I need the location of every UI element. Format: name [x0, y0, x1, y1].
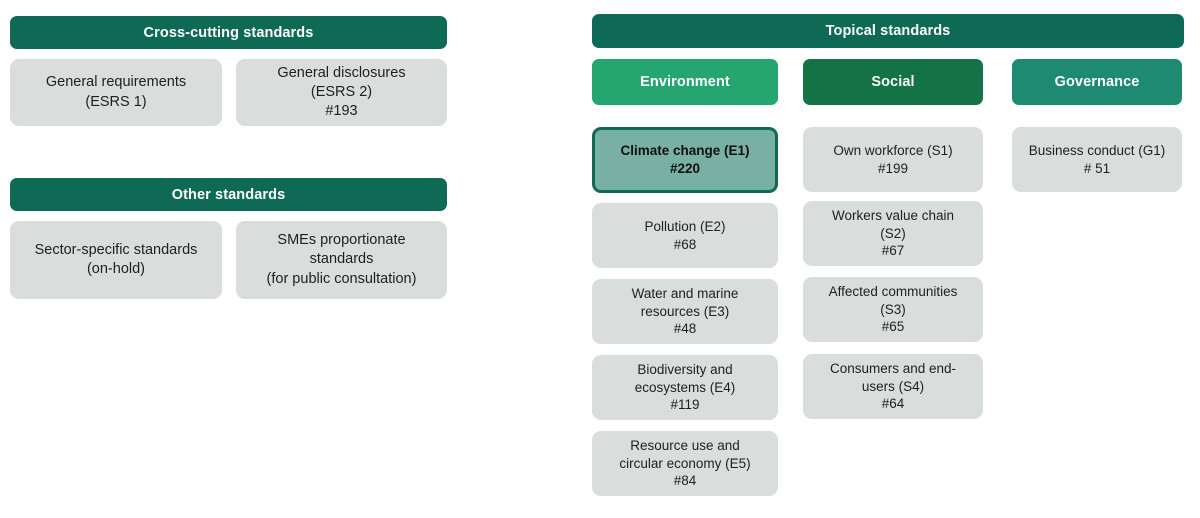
card-water-and-marine-resources-e3-text: Water and marine resources (E3) #48: [632, 285, 739, 338]
card-general-disclosures-text: General disclosures (ESRS 2) #193: [277, 64, 405, 121]
card-smes-proportionate-standards-text: SMEs proportionate standards (for public…: [244, 231, 439, 288]
card-workers-value-chain-s2-text: Workers value chain (S2) #67: [832, 207, 954, 260]
cross-cutting-standards-header: Cross-cutting standards: [10, 16, 447, 49]
card-resource-use-and-circular-economy-e5[interactable]: Resource use and circular economy (E5) #…: [592, 431, 778, 496]
column-header-governance[interactable]: Governance: [1012, 59, 1182, 105]
card-business-conduct-g1-text: Business conduct (G1) # 51: [1029, 142, 1166, 178]
card-own-workforce-s1-text: Own workforce (S1) #199: [833, 142, 952, 178]
card-biodiversity-and-ecosystems-e4[interactable]: Biodiversity and ecosystems (E4) #119: [592, 355, 778, 420]
card-resource-use-and-circular-economy-e5-text: Resource use and circular economy (E5) #…: [619, 437, 750, 490]
card-sector-specific-standards-text: Sector-specific standards (on-hold): [35, 241, 198, 279]
column-header-environment[interactable]: Environment: [592, 59, 778, 105]
card-climate-change-e1-text: Climate change (E1) #220: [620, 142, 749, 178]
column-header-social[interactable]: Social: [803, 59, 983, 105]
card-affected-communities-s3-text: Affected communities (S3) #65: [829, 283, 958, 336]
card-pollution-e2[interactable]: Pollution (E2) #68: [592, 203, 778, 268]
other-standards-header: Other standards: [10, 178, 447, 211]
card-general-disclosures[interactable]: General disclosures (ESRS 2) #193: [236, 59, 447, 126]
card-smes-proportionate-standards[interactable]: SMEs proportionate standards (for public…: [236, 221, 447, 299]
card-workers-value-chain-s2[interactable]: Workers value chain (S2) #67: [803, 201, 983, 266]
card-affected-communities-s3[interactable]: Affected communities (S3) #65: [803, 277, 983, 342]
card-pollution-e2-text: Pollution (E2) #68: [644, 218, 725, 254]
card-sector-specific-standards[interactable]: Sector-specific standards (on-hold): [10, 221, 222, 299]
card-general-requirements-text: General requirements (ESRS 1): [46, 73, 186, 111]
topical-standards-header: Topical standards: [592, 14, 1184, 48]
card-own-workforce-s1[interactable]: Own workforce (S1) #199: [803, 127, 983, 192]
card-consumers-and-end-users-s4-text: Consumers and end- users (S4) #64: [830, 360, 956, 413]
card-climate-change-e1[interactable]: Climate change (E1) #220: [592, 127, 778, 193]
card-biodiversity-and-ecosystems-e4-text: Biodiversity and ecosystems (E4) #119: [635, 361, 736, 414]
card-business-conduct-g1[interactable]: Business conduct (G1) # 51: [1012, 127, 1182, 192]
card-water-and-marine-resources-e3[interactable]: Water and marine resources (E3) #48: [592, 279, 778, 344]
card-general-requirements[interactable]: General requirements (ESRS 1): [10, 59, 222, 126]
cross-cutting-and-other-standards-panel: Cross-cutting standards General requirem…: [0, 0, 460, 320]
card-consumers-and-end-users-s4[interactable]: Consumers and end- users (S4) #64: [803, 354, 983, 419]
